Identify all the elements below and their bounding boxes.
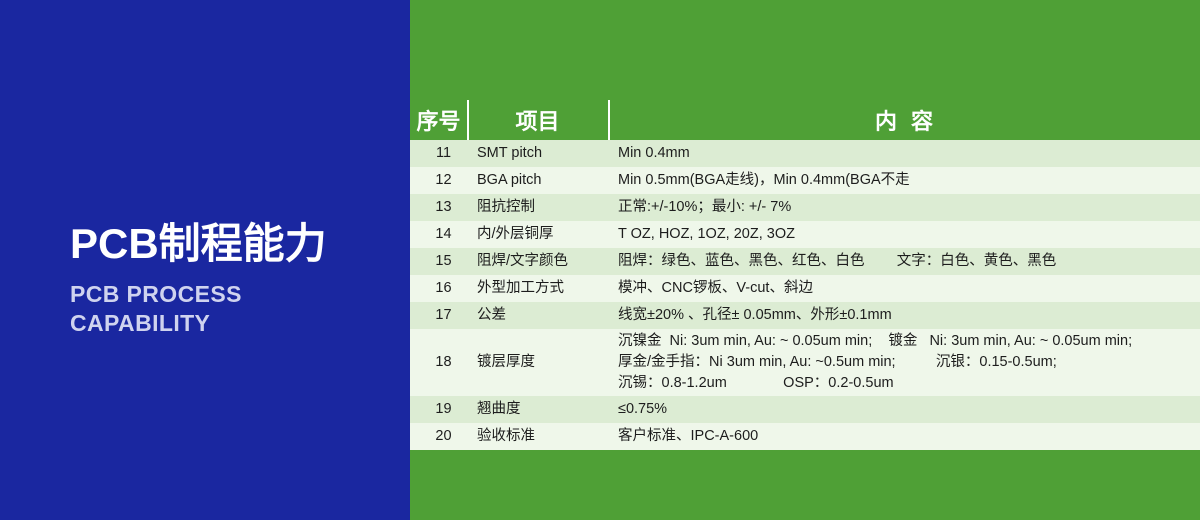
- cell-item: SMT pitch: [467, 140, 608, 167]
- page-subtitle: PCB PROCESS CAPABILITY: [70, 280, 400, 338]
- title-block: PCB制程能力 PCB PROCESS CAPABILITY: [70, 222, 400, 338]
- cell-content-line: 沉锡：0.8-1.2um OSP：0.2-0.5um: [618, 373, 1200, 394]
- spec-table-header: 序号 项目 内容: [410, 100, 1200, 140]
- slide-root: PCB制程能力 PCB PROCESS CAPABILITY 序号 项目 内容 …: [0, 0, 1200, 520]
- page-title: PCB制程能力: [70, 222, 400, 266]
- cell-no: 20: [410, 423, 467, 450]
- cell-content: 正常:+/-10%；最小: +/- 7%: [608, 194, 1200, 221]
- spec-table-header-row: 序号 项目 内容: [410, 100, 1200, 140]
- cell-item: BGA pitch: [467, 167, 608, 194]
- column-header-item: 项目: [467, 100, 608, 140]
- table-row: 15阻焊/文字颜色阻焊：绿色、蓝色、黑色、红色、白色 文字：白色、黄色、黑色: [410, 248, 1200, 275]
- cell-item: 公差: [467, 302, 608, 329]
- cell-content-line: 沉镍金 Ni: 3um min, Au: ~ 0.05um min; 镀金 Ni…: [618, 331, 1200, 352]
- cell-content-line: 线宽±20% 、孔径± 0.05mm、外形±0.1mm: [618, 305, 1200, 326]
- table-row: 14内/外层铜厚T OZ, HOZ, 1OZ, 20Z, 3OZ: [410, 221, 1200, 248]
- cell-no: 13: [410, 194, 467, 221]
- table-row: 12BGA pitchMin 0.5mm(BGA走线)，Min 0.4mm(BG…: [410, 167, 1200, 194]
- cell-content-line: ≤0.75%: [618, 399, 1200, 420]
- cell-no: 18: [410, 329, 467, 396]
- cell-content-line: Min 0.5mm(BGA走线)，Min 0.4mm(BGA不走: [618, 170, 1200, 191]
- cell-no: 16: [410, 275, 467, 302]
- table-row: 17公差线宽±20% 、孔径± 0.05mm、外形±0.1mm: [410, 302, 1200, 329]
- cell-item: 翘曲度: [467, 396, 608, 423]
- page-subtitle-line-1: PCB PROCESS: [70, 280, 400, 309]
- table-row: 11SMT pitchMin 0.4mm: [410, 140, 1200, 167]
- table-row: 19翘曲度≤0.75%: [410, 396, 1200, 423]
- cell-item: 内/外层铜厚: [467, 221, 608, 248]
- table-row: 20验收标准客户标准、IPC-A-600: [410, 423, 1200, 450]
- spec-table: 序号 项目 内容 11SMT pitchMin 0.4mm12BGA pitch…: [410, 100, 1200, 450]
- cell-no: 11: [410, 140, 467, 167]
- cell-no: 19: [410, 396, 467, 423]
- table-row: 18镀层厚度沉镍金 Ni: 3um min, Au: ~ 0.05um min;…: [410, 329, 1200, 396]
- left-title-panel: PCB制程能力 PCB PROCESS CAPABILITY: [0, 0, 410, 520]
- table-row: 13阻抗控制正常:+/-10%；最小: +/- 7%: [410, 194, 1200, 221]
- cell-content-line: 模冲、CNC锣板、V-cut、斜边: [618, 278, 1200, 299]
- cell-no: 14: [410, 221, 467, 248]
- cell-content-line: T OZ, HOZ, 1OZ, 20Z, 3OZ: [618, 224, 1200, 245]
- cell-no: 15: [410, 248, 467, 275]
- cell-content: 线宽±20% 、孔径± 0.05mm、外形±0.1mm: [608, 302, 1200, 329]
- cell-content-line: Min 0.4mm: [618, 143, 1200, 164]
- cell-content: 沉镍金 Ni: 3um min, Au: ~ 0.05um min; 镀金 Ni…: [608, 329, 1200, 396]
- cell-no: 12: [410, 167, 467, 194]
- column-header-no: 序号: [410, 100, 467, 140]
- cell-item: 镀层厚度: [467, 329, 608, 396]
- cell-content: 客户标准、IPC-A-600: [608, 423, 1200, 450]
- cell-content: ≤0.75%: [608, 396, 1200, 423]
- cell-content-line: 阻焊：绿色、蓝色、黑色、红色、白色 文字：白色、黄色、黑色: [618, 251, 1200, 272]
- page-subtitle-line-2: CAPABILITY: [70, 309, 400, 338]
- table-row: 16外型加工方式模冲、CNC锣板、V-cut、斜边: [410, 275, 1200, 302]
- cell-content: 阻焊：绿色、蓝色、黑色、红色、白色 文字：白色、黄色、黑色: [608, 248, 1200, 275]
- cell-content-line: 客户标准、IPC-A-600: [618, 426, 1200, 447]
- cell-content: Min 0.4mm: [608, 140, 1200, 167]
- cell-no: 17: [410, 302, 467, 329]
- spec-table-body: 11SMT pitchMin 0.4mm12BGA pitchMin 0.5mm…: [410, 140, 1200, 450]
- cell-content: 模冲、CNC锣板、V-cut、斜边: [608, 275, 1200, 302]
- cell-content-line: 厚金/金手指：Ni 3um min, Au: ~0.5um min; 沉银：0.…: [618, 352, 1200, 373]
- cell-content: Min 0.5mm(BGA走线)，Min 0.4mm(BGA不走: [608, 167, 1200, 194]
- cell-item: 外型加工方式: [467, 275, 608, 302]
- cell-item: 阻焊/文字颜色: [467, 248, 608, 275]
- column-header-content-label: 内容: [861, 104, 947, 136]
- column-header-content: 内容: [608, 100, 1200, 140]
- cell-content: T OZ, HOZ, 1OZ, 20Z, 3OZ: [608, 221, 1200, 248]
- cell-item: 阻抗控制: [467, 194, 608, 221]
- cell-item: 验收标准: [467, 423, 608, 450]
- cell-content-line: 正常:+/-10%；最小: +/- 7%: [618, 197, 1200, 218]
- spec-table-container: 序号 项目 内容 11SMT pitchMin 0.4mm12BGA pitch…: [410, 100, 1200, 450]
